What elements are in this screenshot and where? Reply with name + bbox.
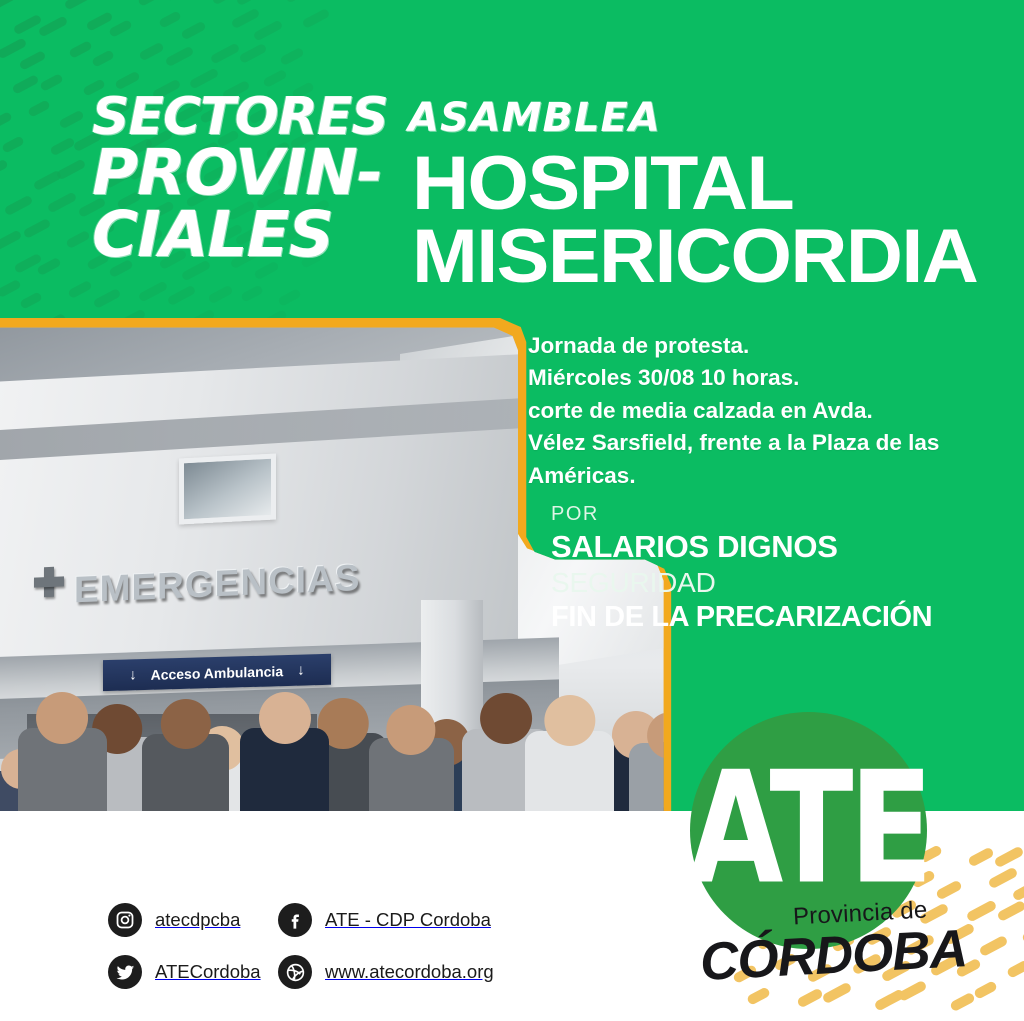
por-label: POR <box>551 503 599 526</box>
demand-salarios-dignos: SALARIOS DIGNOS <box>551 528 971 566</box>
decorative-dash <box>2 135 26 153</box>
decorative-dash <box>239 43 268 64</box>
decorative-dash <box>0 111 13 130</box>
social-link-website[interactable]: www.atecordoba.org <box>278 955 494 989</box>
arrow-down-icon-left: ↓ <box>129 666 137 683</box>
decorative-dash <box>166 285 195 306</box>
medical-cross-icon <box>34 566 64 597</box>
page-title: HOSPITAL MISERICORDIA <box>412 148 977 294</box>
facebook-icon <box>278 903 312 937</box>
decorative-dash <box>180 20 206 40</box>
decorative-dash <box>158 10 182 28</box>
decorative-dash <box>93 288 122 309</box>
decorative-dash <box>262 69 287 88</box>
decorative-dash <box>0 38 27 60</box>
decorative-dash <box>0 279 21 298</box>
decorative-dash <box>14 253 43 274</box>
decorative-dash <box>138 281 169 303</box>
decorative-dash <box>139 41 165 61</box>
poster-canvas: SECTORES PROVIN- CIALES ASAMBLEA HOSPITA… <box>0 0 1024 1021</box>
decorative-dash <box>38 15 68 37</box>
event-details: Jornada de protesta. Miércoles 30/08 10 … <box>528 330 998 492</box>
demand-seguridad: SEGURIDAD <box>551 566 971 600</box>
acceso-ambulancia-sign: ↓ Acceso Ambulancia ↓ <box>103 654 331 692</box>
sector-heading-line-2: PROVIN- <box>92 142 402 203</box>
decorative-dash <box>0 159 9 179</box>
arrow-down-icon-right: ↓ <box>297 662 305 679</box>
decorative-dash <box>37 257 62 276</box>
social-label-website: www.atecordoba.org <box>325 961 494 983</box>
decorative-dash <box>108 19 133 38</box>
acceso-ambulancia-text: Acceso Ambulancia <box>151 663 284 683</box>
crowd-person-head <box>259 692 311 744</box>
social-link-instagram[interactable]: atecdpcba <box>108 903 278 937</box>
decorative-dash <box>55 158 86 180</box>
social-row-2: ATECordoba www.atecordoba.org <box>108 955 528 989</box>
sector-heading-line-3: CIALES <box>92 204 402 265</box>
decorative-dash <box>32 169 61 190</box>
decorative-dash <box>19 50 47 70</box>
social-link-twitter[interactable]: ATECordoba <box>108 955 278 989</box>
decorative-dash <box>12 75 40 95</box>
social-link-facebook[interactable]: ATE - CDP Cordoba <box>278 903 491 937</box>
event-details-line-2: Miércoles 30/08 10 horas. <box>528 362 998 394</box>
decorative-dash <box>235 0 264 6</box>
decorative-dash <box>164 0 188 2</box>
decorative-dash <box>27 100 51 118</box>
social-links: atecdpcba ATE - CDP Cordoba ATECordoba <box>108 903 528 1007</box>
decorative-dash <box>230 8 259 29</box>
social-label-twitter: ATECordoba <box>155 961 261 983</box>
decorative-dash <box>65 230 90 249</box>
social-label-facebook: ATE - CDP Cordoba <box>325 909 491 931</box>
decorative-dash <box>40 73 65 92</box>
crowd-person-head <box>160 699 210 749</box>
crowd-person-head <box>480 693 532 745</box>
web-icon <box>278 955 312 989</box>
instagram-icon <box>108 903 142 937</box>
twitter-icon <box>108 955 142 989</box>
decorative-dash <box>86 11 114 31</box>
decorative-dash <box>4 194 33 215</box>
sector-heading: SECTORES PROVIN- CIALES <box>92 92 402 265</box>
decorative-dash <box>165 46 194 67</box>
page-title-line-1: HOSPITAL <box>412 148 977 221</box>
event-details-line-5: Américas. <box>528 460 998 492</box>
event-details-line-4: Vélez Sarsfield, frente a la Plaza de la… <box>528 427 998 459</box>
decorative-dash <box>284 0 315 3</box>
decorative-dash <box>67 280 92 299</box>
sector-heading-line-1: SECTORES <box>92 92 402 142</box>
decorative-dash <box>19 291 43 309</box>
decorative-dash <box>209 43 240 65</box>
crowd-person-head <box>386 705 435 754</box>
decorative-dash <box>240 284 264 302</box>
decorative-dash <box>137 0 162 7</box>
building-window <box>179 453 276 524</box>
decorative-dash <box>302 8 331 29</box>
ate-wordmark: ATE <box>688 751 929 906</box>
decorative-dash <box>50 136 76 156</box>
social-label-instagram: atecdpcba <box>155 909 240 931</box>
decorative-dash <box>13 14 43 36</box>
decorative-dash <box>0 0 17 11</box>
decorative-dash <box>23 218 52 239</box>
decorative-dash <box>211 0 237 5</box>
page-title-line-2: MISERICORDIA <box>412 221 977 294</box>
crowd-person-head <box>36 692 88 744</box>
decorative-dash <box>91 50 115 68</box>
event-details-line-1: Jornada de protesta. <box>528 330 998 362</box>
decorative-dash <box>68 40 93 59</box>
decorative-dash <box>64 0 94 11</box>
social-row-1: atecdpcba ATE - CDP Cordoba <box>108 903 528 937</box>
demand-fin-precarizacion: FIN DE LA PRECARIZACIÓN <box>551 600 971 635</box>
crowd-person-head <box>544 695 595 746</box>
demands-list: SALARIOS DIGNOS SEGURIDAD FIN DE LA PREC… <box>551 528 971 635</box>
decorative-dash <box>0 229 22 251</box>
decorative-dash <box>253 19 284 41</box>
decorative-dash <box>277 288 302 307</box>
event-details-line-3: corte de media calzada en Avda. <box>528 395 998 427</box>
decorative-dash <box>207 285 233 305</box>
decorative-dash <box>279 47 304 66</box>
asamblea-kicker: ASAMBLEA <box>408 98 661 138</box>
decorative-dash <box>58 110 84 130</box>
decorative-dash <box>46 192 77 214</box>
